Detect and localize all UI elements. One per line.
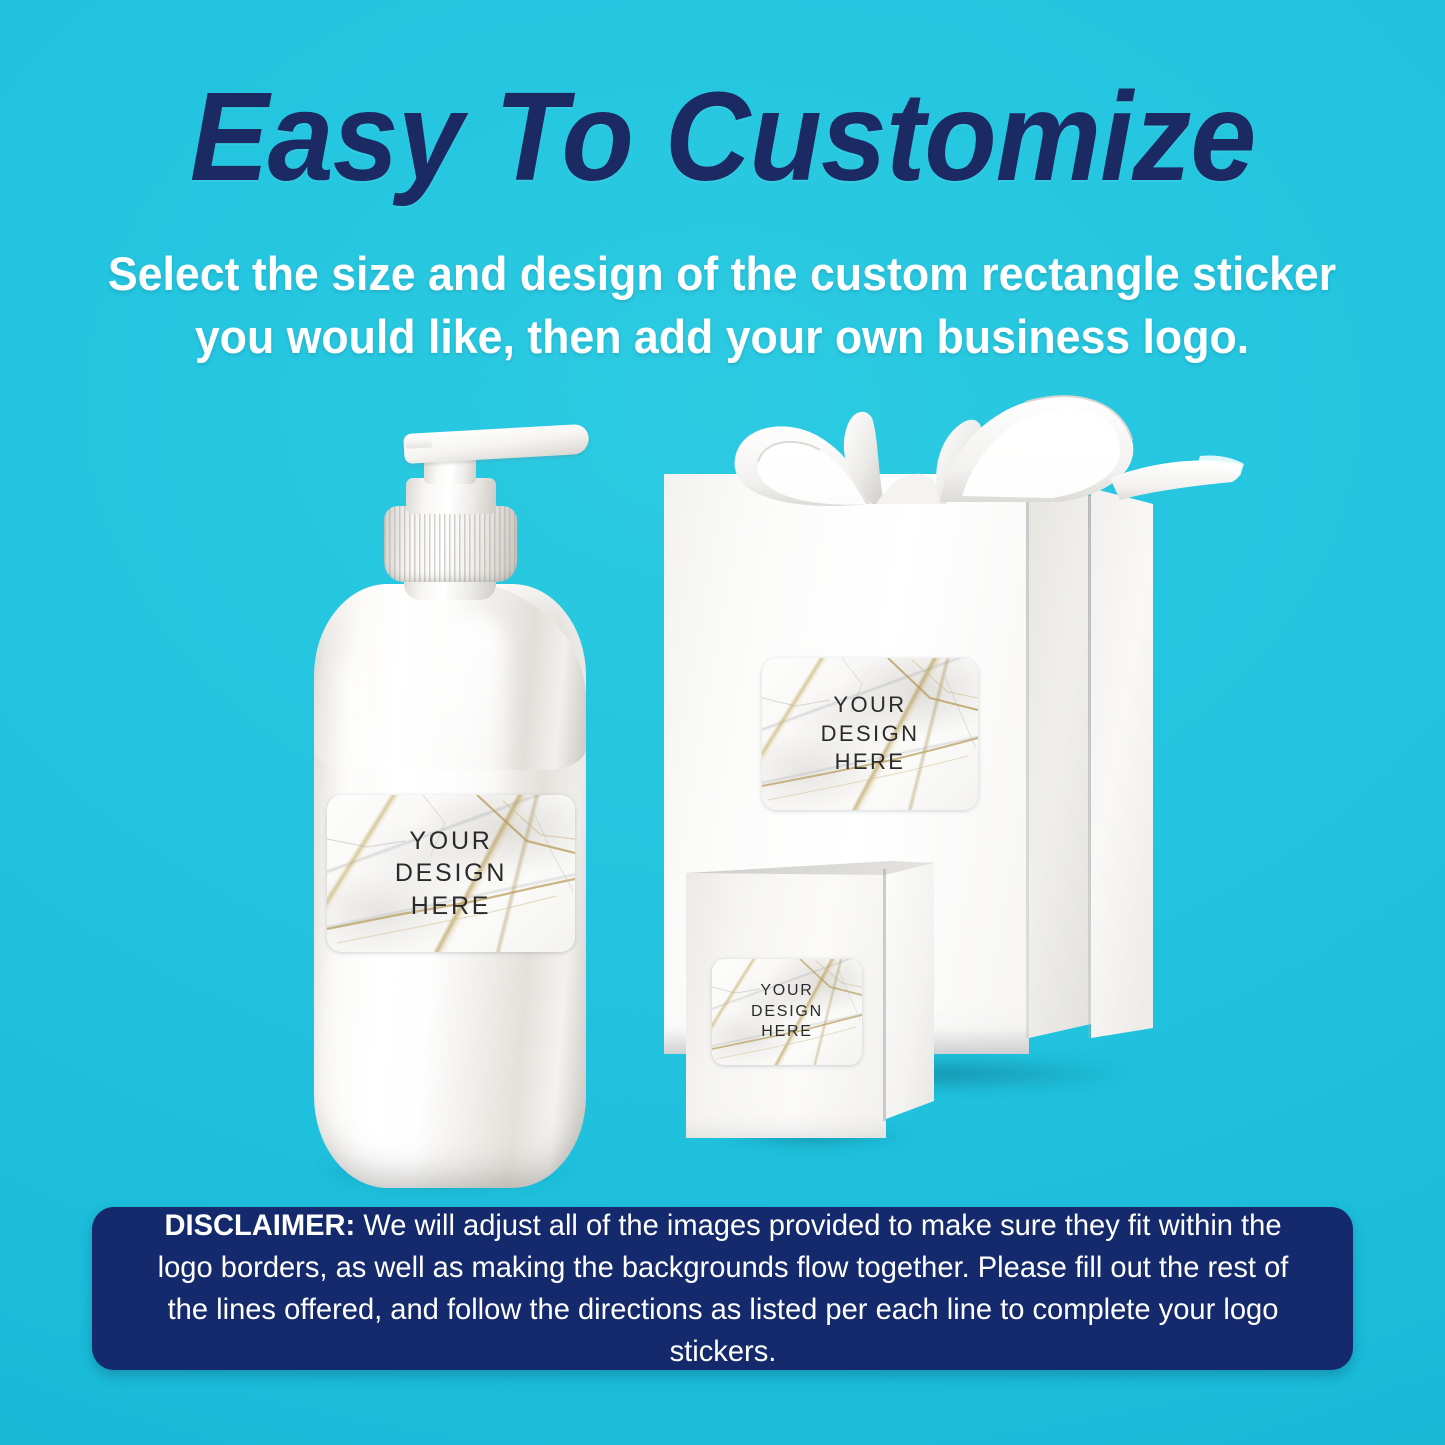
gift-box-lid-side-panel — [1029, 482, 1091, 1038]
poster-canvas: Easy To Customize Select the size and de… — [0, 0, 1445, 1445]
disclaimer-banner: DISCLAIMER: We will adjust all of the im… — [92, 1207, 1353, 1370]
page-title: Easy To Customize — [43, 74, 1401, 200]
bottle-label-sticker: YOUR DESIGN HERE — [327, 795, 575, 952]
bow-knot — [876, 474, 942, 504]
disclaimer-text: DISCLAIMER: We will adjust all of the im… — [145, 1205, 1299, 1373]
pump-bottle: YOUR DESIGN HERE — [300, 430, 600, 1190]
sticker-label-text: YOUR DESIGN HERE — [751, 981, 823, 1043]
sticker-label-text: YOUR DESIGN HERE — [821, 691, 920, 777]
gift-box-base-side-panel — [1091, 488, 1153, 1038]
ribbon-bow-svg — [640, 392, 1260, 512]
small-box-sticker: YOUR DESIGN HERE — [712, 959, 862, 1065]
small-box-side-panel — [886, 861, 934, 1119]
sticker-label-text: YOUR DESIGN HERE — [395, 825, 507, 923]
disclaimer-label: DISCLAIMER: — [164, 1209, 355, 1242]
pump-nozzle-lever — [403, 424, 589, 464]
gift-box-sticker: YOUR DESIGN HERE — [762, 658, 978, 810]
page-subtitle: Select the size and design of the custom… — [105, 243, 1340, 368]
small-box-front-edge — [883, 869, 886, 1121]
pump-collar-ribbed — [384, 506, 517, 582]
ribbon-bow — [640, 392, 1260, 512]
small-box: YOUR DESIGN HERE — [680, 855, 950, 1145]
